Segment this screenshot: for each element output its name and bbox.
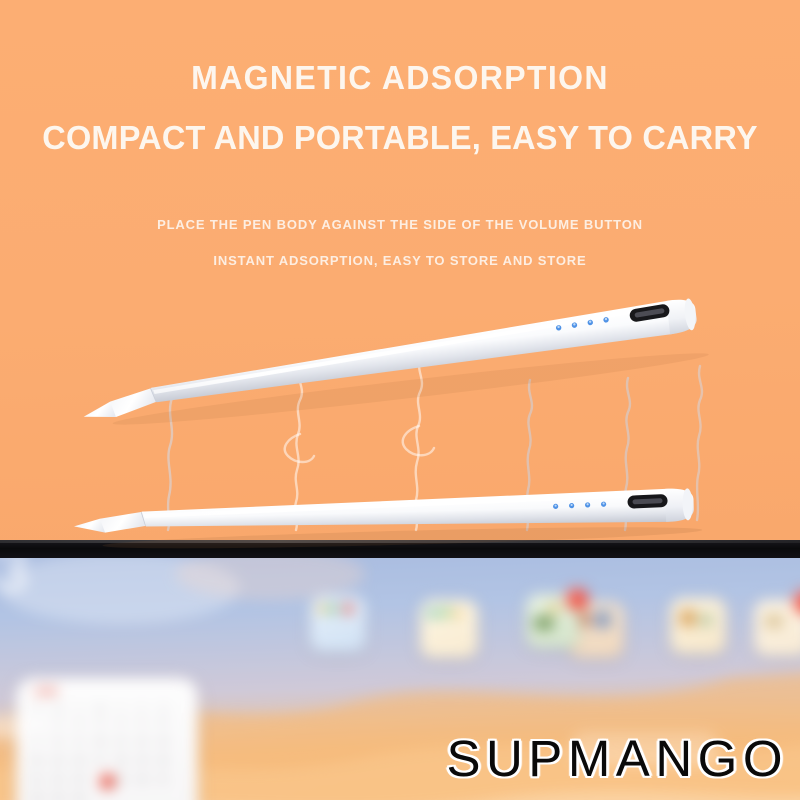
calendar-weekday-header: W [93,704,107,713]
headline-primary: MAGNETIC ADSORPTION [12,58,788,98]
calendar-day-cell[interactable]: 17 [93,756,107,765]
stylus-bottom-cone [100,511,149,532]
app-icon-notes-glyphs [420,600,478,658]
app-icon-photos-glyphs [310,596,366,652]
calendar-day-cell[interactable]: 1 [51,718,65,727]
app-icon-store[interactable] [670,598,726,654]
app-icon-files[interactable] [754,600,800,656]
calendar-day-cell[interactable]: 28 [30,794,44,800]
calendar-day-cell[interactable]: 30 [72,794,86,800]
calendar-day-cell[interactable]: 5 [135,718,149,727]
calendar-weekday-header: T [114,704,128,713]
headline-secondary: COMPACT AND PORTABLE, EASY TO CARRY [6,118,794,158]
status-clock: :53 [0,558,29,602]
calendar-widget[interactable]: JUN SMTWTFS12345678910111213141516171819… [16,678,198,800]
calendar-day-cell[interactable]: 9 [72,737,86,746]
app-badge-weather [566,588,588,610]
calendar-day-cell[interactable]: 16 [72,756,86,765]
stylus-top-svg [75,281,727,450]
screen-search-pill[interactable] [0,716,34,738]
calendar-day-cell[interactable]: 25 [114,775,128,784]
brand-wordmark: SUPMANGO [446,732,788,786]
calendar-day-cell[interactable]: 19 [135,756,149,765]
calendar-day-cell[interactable]: 29 [51,794,65,800]
app-icon-files-glyphs [754,600,800,656]
calendar-day-cell[interactable]: 20 [156,756,170,765]
stylus-bottom-svg [71,480,718,565]
calendar-day-cell[interactable]: 2 [72,718,86,727]
calendar-weekday-header: S [30,704,44,713]
stylus-top [75,281,727,450]
calendar-today-marker [100,774,115,789]
stylus-bottom-usbc-port [627,494,668,509]
calendar-day-cell[interactable]: 4 [114,718,128,727]
calendar-day-cell[interactable]: 21 [30,775,44,784]
calendar-weekday-header: S [156,704,170,713]
calendar-weekday-header: F [135,704,149,713]
calendar-day-cell[interactable]: 11 [114,737,128,746]
app-icon-notes[interactable] [420,600,478,658]
calendar-day-cell[interactable]: 12 [135,737,149,746]
product-banner: MAGNETIC ADSORPTION COMPACT AND PORTABLE… [0,0,800,800]
calendar-day-cell[interactable]: 8 [51,737,65,746]
calendar-day-cell[interactable]: 22 [51,775,65,784]
calendar-day-cell[interactable]: 14 [30,756,44,765]
calendar-day-cell[interactable]: 26 [135,775,149,784]
stylus-top-highlight [166,305,666,392]
calendar-weekday-header: T [72,704,86,713]
stylus-bottom [71,480,718,565]
calendar-weekday-header: M [51,704,65,713]
calendar-day-cell[interactable]: 3 [93,718,107,727]
calendar-day-cell[interactable]: 15 [51,756,65,765]
subtitle-line-2: INSTANT ADSORPTION, EASY TO STORE AND ST… [0,252,800,270]
app-icon-store-glyphs [670,598,726,654]
calendar-day-cell[interactable]: 23 [72,775,86,784]
subtitle-line-1: PLACE THE PEN BODY AGAINST THE SIDE OF T… [0,216,800,234]
calendar-day-cell[interactable]: 27 [156,775,170,784]
calendar-day-cell[interactable]: 18 [114,756,128,765]
calendar-day-cell[interactable]: 10 [93,737,107,746]
calendar-day-cell[interactable]: 13 [156,737,170,746]
calendar-day-cell[interactable]: 7 [30,737,44,746]
calendar-month-label: JUN [34,686,58,698]
calendar-day-cell[interactable]: 6 [156,718,170,727]
stylus-bottom-shadow [102,523,702,553]
app-icon-photos[interactable] [310,596,366,652]
